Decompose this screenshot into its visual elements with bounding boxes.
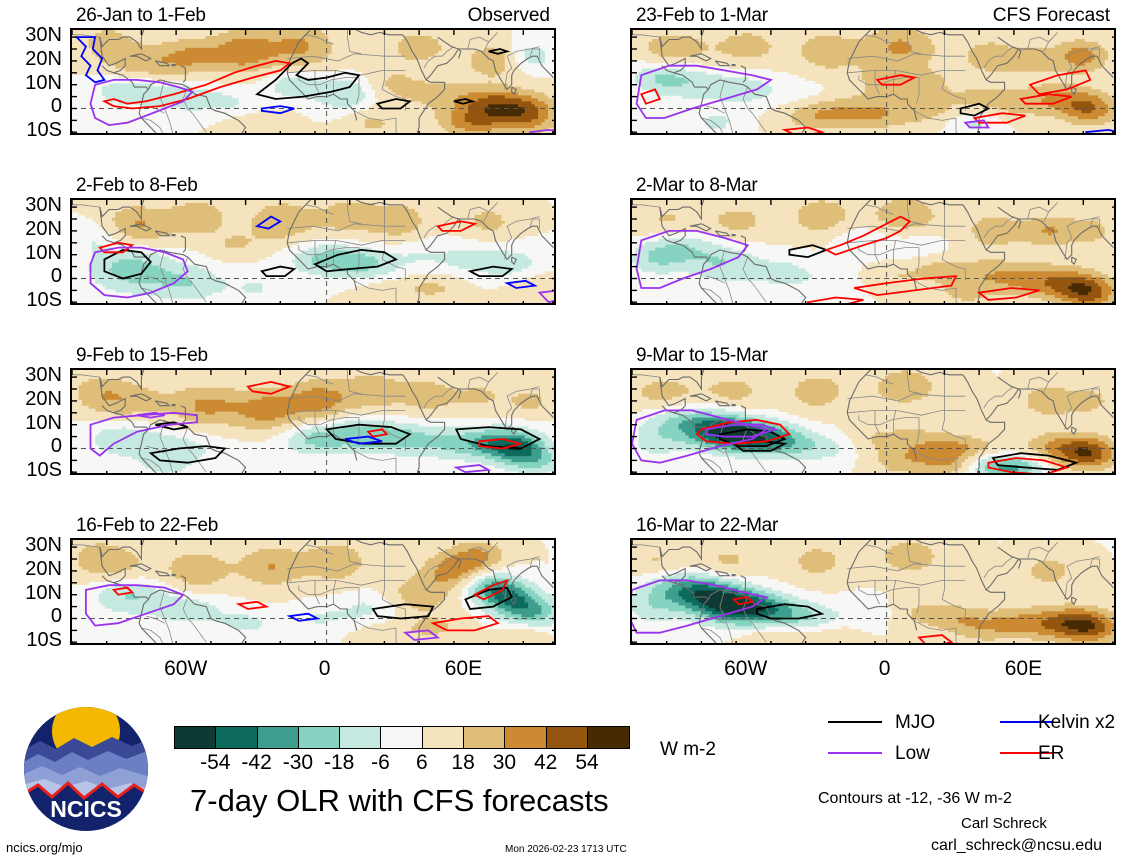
x-axis-tick-label: 60E xyxy=(993,658,1053,679)
panel-title: 2-Feb to 8-Feb xyxy=(76,176,197,195)
author-email[interactable]: carl_schreck@ncsu.edu xyxy=(931,838,1102,854)
map-panel[interactable] xyxy=(630,538,1116,645)
contour-note: Contours at -12, -36 W m-2 xyxy=(818,791,1012,807)
colorbar-swatch xyxy=(547,727,588,748)
x-axis-tick-label: 60W xyxy=(716,658,776,679)
colorbar-swatch xyxy=(299,727,340,748)
map-panel[interactable] xyxy=(70,28,556,135)
panel-title: 9-Feb to 15-Feb xyxy=(76,346,208,365)
y-axis-tick-label: 20N xyxy=(0,49,62,69)
x-axis-tick-label: 0 xyxy=(295,658,355,679)
y-axis-tick-label: 30N xyxy=(0,535,62,555)
map-panel[interactable] xyxy=(630,28,1116,135)
panel-title: 16-Feb to 22-Feb xyxy=(76,516,218,535)
colorbar-tick-label: 54 xyxy=(562,752,612,773)
x-axis-tick-label: 60E xyxy=(433,658,493,679)
chart-title: 7-day OLR with CFS forecasts xyxy=(190,785,609,816)
timestamp: Mon 2026-02-23 1713 UTC xyxy=(505,845,627,855)
y-axis-tick-label: 0 xyxy=(0,266,62,286)
map-panel[interactable] xyxy=(70,538,556,645)
y-axis-tick-label: 30N xyxy=(0,195,62,215)
colorbar-swatch xyxy=(258,727,299,748)
y-axis-tick-label: 20N xyxy=(0,559,62,579)
colorbar-swatch xyxy=(340,727,381,748)
ncics-logo: NCICS xyxy=(22,705,150,833)
map-panel[interactable] xyxy=(70,198,556,305)
panel-corner-label: Observed xyxy=(468,6,550,25)
colorbar-swatch xyxy=(423,727,464,748)
y-axis-tick-label: 20N xyxy=(0,219,62,239)
legend-label: MJO xyxy=(895,713,935,732)
colorbar xyxy=(174,726,630,749)
x-axis-tick-label: 60W xyxy=(156,658,216,679)
y-axis-tick-label: 10N xyxy=(0,413,62,433)
y-axis-tick-label: 30N xyxy=(0,365,62,385)
colorbar-units-label: W m-2 xyxy=(660,740,716,759)
colorbar-swatch xyxy=(588,727,629,748)
legend-line-swatch xyxy=(828,752,882,754)
legend-line-swatch xyxy=(828,721,882,723)
panel-title: 23-Feb to 1-Mar xyxy=(636,6,768,25)
map-panel[interactable] xyxy=(630,198,1116,305)
panel-title: 16-Mar to 22-Mar xyxy=(636,516,778,535)
map-panel[interactable] xyxy=(70,368,556,475)
panel-title: 2-Mar to 8-Mar xyxy=(636,176,757,195)
legend-label: Kelvin x2 xyxy=(1038,713,1115,732)
y-axis-tick-label: 10S xyxy=(0,460,62,480)
panel-title: 9-Mar to 15-Mar xyxy=(636,346,768,365)
legend-label: ER xyxy=(1038,744,1064,763)
author-credit: Carl Schreck xyxy=(961,816,1047,831)
map-panel[interactable] xyxy=(630,368,1116,475)
logo-text: NCICS xyxy=(50,796,122,822)
colorbar-swatch xyxy=(216,727,257,748)
y-axis-tick-label: 0 xyxy=(0,436,62,456)
colorbar-swatch xyxy=(464,727,505,748)
y-axis-tick-label: 10N xyxy=(0,73,62,93)
legend-label: Low xyxy=(895,744,930,763)
panel-corner-label: CFS Forecast xyxy=(993,6,1110,25)
x-axis-tick-label: 0 xyxy=(855,658,915,679)
y-axis-tick-label: 0 xyxy=(0,96,62,116)
y-axis-tick-label: 10N xyxy=(0,243,62,263)
site-url[interactable]: ncics.org/mjo xyxy=(6,841,83,854)
y-axis-tick-label: 10S xyxy=(0,290,62,310)
y-axis-tick-label: 30N xyxy=(0,25,62,45)
panel-title: 26-Jan to 1-Feb xyxy=(76,6,206,25)
y-axis-tick-label: 10S xyxy=(0,120,62,140)
colorbar-swatch xyxy=(505,727,546,748)
colorbar-swatch xyxy=(175,727,216,748)
y-axis-tick-label: 0 xyxy=(0,606,62,626)
colorbar-swatch xyxy=(381,727,422,748)
y-axis-tick-label: 20N xyxy=(0,389,62,409)
y-axis-tick-label: 10N xyxy=(0,583,62,603)
y-axis-tick-label: 10S xyxy=(0,630,62,650)
